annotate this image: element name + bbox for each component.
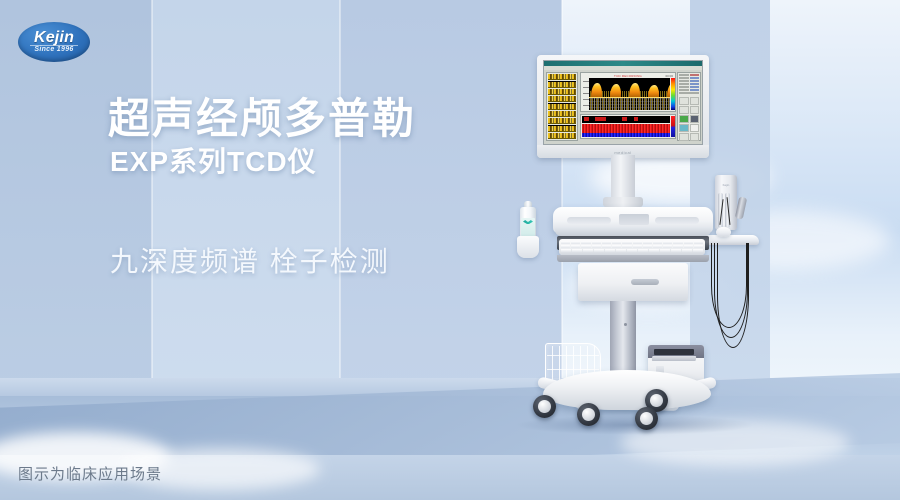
- save-icon[interactable]: [679, 124, 689, 132]
- depth-channel-thumb[interactable]: [548, 133, 576, 139]
- doppler-reverse-noise: [589, 98, 670, 110]
- play-icon[interactable]: [679, 115, 689, 123]
- mmode-colorbar: [671, 116, 675, 137]
- depth-channel-thumb[interactable]: [548, 74, 576, 80]
- worktop-groove-left: [567, 217, 611, 224]
- mmode-panel[interactable]: [580, 114, 676, 139]
- control-button[interactable]: [679, 89, 689, 91]
- depth-channel-thumb[interactable]: [548, 96, 576, 102]
- caster-left: [533, 395, 556, 418]
- spectrum-colorbar: [671, 78, 675, 110]
- depth-channel-thumb[interactable]: [548, 118, 576, 124]
- column-screw-dot: [624, 323, 627, 326]
- tool-icon[interactable]: [690, 133, 700, 141]
- monitor-screen[interactable]: TCD RECORDING 00:00: [543, 60, 703, 145]
- control-button[interactable]: [679, 77, 689, 79]
- cart-column: [610, 301, 636, 375]
- mmode-reverse-flow: [582, 133, 670, 137]
- doppler-pulse: [629, 83, 640, 98]
- feature-tagline: 九深度频谱 栓子检测: [110, 248, 390, 276]
- worktop-front-edge: [555, 227, 711, 236]
- control-button[interactable]: [690, 83, 700, 85]
- printer-paper-slot: [654, 349, 694, 355]
- depth-channel-thumb[interactable]: [548, 81, 576, 87]
- tool-icon[interactable]: [679, 133, 689, 141]
- spectrum-axis: [582, 78, 589, 110]
- banner-stage: Kejin Since 1996 超声经颅多普勒 EXP系列TCD仪 九深度频谱…: [0, 0, 900, 500]
- disclaimer-note: 图示为临床应用场景: [18, 463, 162, 484]
- mmode-event-strip: [582, 116, 670, 123]
- control-button[interactable]: [679, 86, 689, 88]
- tcd-cart: TCD RECORDING 00:00: [515, 55, 775, 445]
- gel-bottle-label: [521, 218, 535, 236]
- hanging-cable-3: [717, 243, 749, 348]
- doppler-pulse: [591, 83, 602, 98]
- keyboard-tray-under: [557, 255, 709, 262]
- printer-output-tray: [652, 356, 697, 361]
- keyboard[interactable]: [559, 239, 705, 255]
- mouse[interactable]: [716, 227, 731, 237]
- monitor-icon[interactable]: [690, 115, 700, 123]
- doppler-pulse: [610, 84, 621, 98]
- logo-since-text: Since 1996: [18, 46, 90, 53]
- mmode-forward-flow: [582, 124, 670, 133]
- tool-icon[interactable]: [679, 97, 689, 105]
- bottle-holder: [517, 236, 539, 258]
- control-button[interactable]: [690, 89, 700, 91]
- icon-button-grid[interactable]: [679, 95, 699, 141]
- cart-base: [543, 370, 711, 410]
- doppler-pulse: [667, 83, 670, 98]
- software-control-panel[interactable]: [677, 72, 701, 141]
- product-model: EXP系列TCD仪: [110, 148, 317, 176]
- caster-front-right: [635, 407, 658, 430]
- depth-channel-thumb[interactable]: [548, 111, 576, 117]
- control-button[interactable]: [690, 80, 700, 82]
- panel-edge-1: [151, 0, 153, 392]
- kejin-logo[interactable]: Kejin Since 1996: [18, 22, 90, 62]
- wall-panel-2: [152, 0, 340, 392]
- control-button[interactable]: [690, 74, 700, 76]
- monitor: TCD RECORDING 00:00: [537, 55, 709, 158]
- control-button[interactable]: [679, 83, 689, 85]
- tool-icon[interactable]: [690, 106, 700, 114]
- print-icon[interactable]: [690, 124, 700, 132]
- depth-channel-thumb[interactable]: [548, 89, 576, 95]
- control-button[interactable]: [690, 86, 700, 88]
- panel-edge-2: [339, 0, 341, 392]
- doppler-spectrum-panel[interactable]: TCD RECORDING 00:00: [580, 72, 676, 112]
- tool-icon[interactable]: [679, 106, 689, 114]
- drawer-handle[interactable]: [631, 279, 659, 285]
- worktop-groove-right: [655, 217, 699, 224]
- spectrum-trace-area: [589, 78, 670, 110]
- control-button[interactable]: [690, 77, 700, 79]
- depth-channel-thumb[interactable]: [548, 103, 576, 109]
- control-button[interactable]: [679, 74, 689, 76]
- page-title: 超声经颅多普勒: [108, 98, 416, 140]
- worktop-center-pad: [619, 214, 649, 225]
- rack-brand-label: Kejin: [715, 183, 737, 187]
- depth-channel-list[interactable]: [546, 72, 578, 141]
- tool-icon[interactable]: [690, 97, 700, 105]
- monitor-stand-base: [603, 197, 643, 207]
- monitor-stand-column: [611, 155, 635, 203]
- gain-slider[interactable]: [679, 92, 699, 94]
- depth-channel-thumb[interactable]: [548, 125, 576, 131]
- control-button[interactable]: [679, 80, 689, 82]
- caster-front-left: [577, 403, 600, 426]
